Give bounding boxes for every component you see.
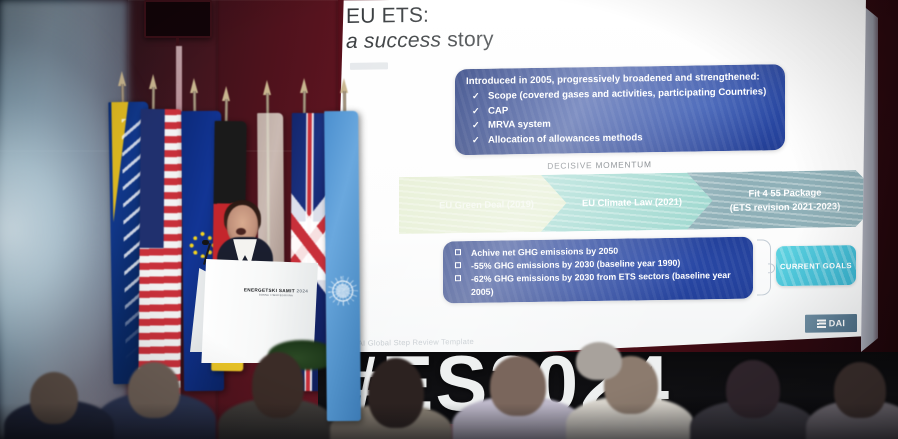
list-item-label: Allocation of allowances methods [488,132,643,145]
check-icon: ✓ [472,90,480,104]
check-icon: ✓ [472,119,480,133]
ceiling-monitor [144,0,212,38]
list-item-label: CAP [488,105,508,116]
curly-brace-icon [757,239,771,295]
podium-logo-year: 2024 [297,288,309,293]
timeline-chevrons: EU Green Deal (2019) EU Climate Law (202… [399,171,822,235]
dai-logo: DAI [805,314,857,333]
speaker-mouth [236,228,246,235]
chevron-sublabel: (ETS revision 2021-2023) [730,199,840,214]
list-item-label: MRVA system [488,119,551,131]
slide-surface: EU ETS: a success story Introduced in 20… [333,0,866,366]
list-item-label: Achive net GHG emissions by 2050 [471,246,618,258]
microphone-icon [202,240,209,245]
goals-callout-box: Achive net GHG emissions by 2050 -55% GH… [443,237,753,304]
chevron-fit-for-55: Fit 4 55 Package (ETS revision 2021-2023… [687,170,883,230]
chevron-label: EU Green Deal (2019) [433,197,540,212]
projection-screen: EU ETS: a success story Introduced in 20… [333,0,866,362]
dai-logo-text: DAI [829,318,845,328]
slide-title: EU ETS: a success story [346,3,494,55]
podium-logo-text: ENERGETSKI SAMIT [244,287,295,293]
list-item-label: -62% GHG emissions by 2030 from ETS sect… [471,270,731,297]
list-item-label: -55% GHG emissions by 2030 (baseline yea… [471,258,680,271]
checkbox-icon [455,275,461,281]
checkbox-icon [455,249,461,255]
slide-title-tail: story [441,27,494,51]
intro-callout-box: Introduced in 2005, progressively broade… [455,64,785,155]
check-icon: ✓ [472,104,480,118]
goals-list: Achive net GHG emissions by 2050 -55% GH… [452,243,744,300]
intro-heading: Introduced in 2005, progressively broade… [466,71,774,87]
list-item-label: Scope (covered gases and activities, par… [488,86,766,101]
un-emblem-icon [328,276,358,306]
flag-united-nations [322,91,369,421]
slide-title-line2: a success story [346,27,494,54]
slide-title-line1: EU ETS: [346,4,429,28]
audience-member [576,342,622,380]
current-goals-badge: CURRENT GOALS [776,245,856,286]
list-item: -62% GHG emissions by 2030 from ETS sect… [452,269,744,300]
intro-checklist: ✓Scope (covered gases and activities, pa… [466,85,774,148]
check-icon: ✓ [472,134,480,148]
placeholder-bar [350,62,388,70]
slide-title-emphasis: a success [346,28,441,52]
conference-photo: ENERGETSKI SAMIT 2024 BOSNA I HERCEGOVIN… [0,0,898,439]
podium-logo: ENERGETSKI SAMIT 2024 BOSNA I HERCEGOVIN… [243,287,309,297]
foreground-shadow [0,403,898,439]
checkbox-icon [455,262,461,268]
bars-icon [817,319,826,328]
flag-united-states [128,87,175,399]
chevron-label: EU Climate Law (2021) [576,194,688,209]
flag-cloth [324,111,361,421]
slide-footer-text: DAI Global Step Review Template [352,337,474,348]
